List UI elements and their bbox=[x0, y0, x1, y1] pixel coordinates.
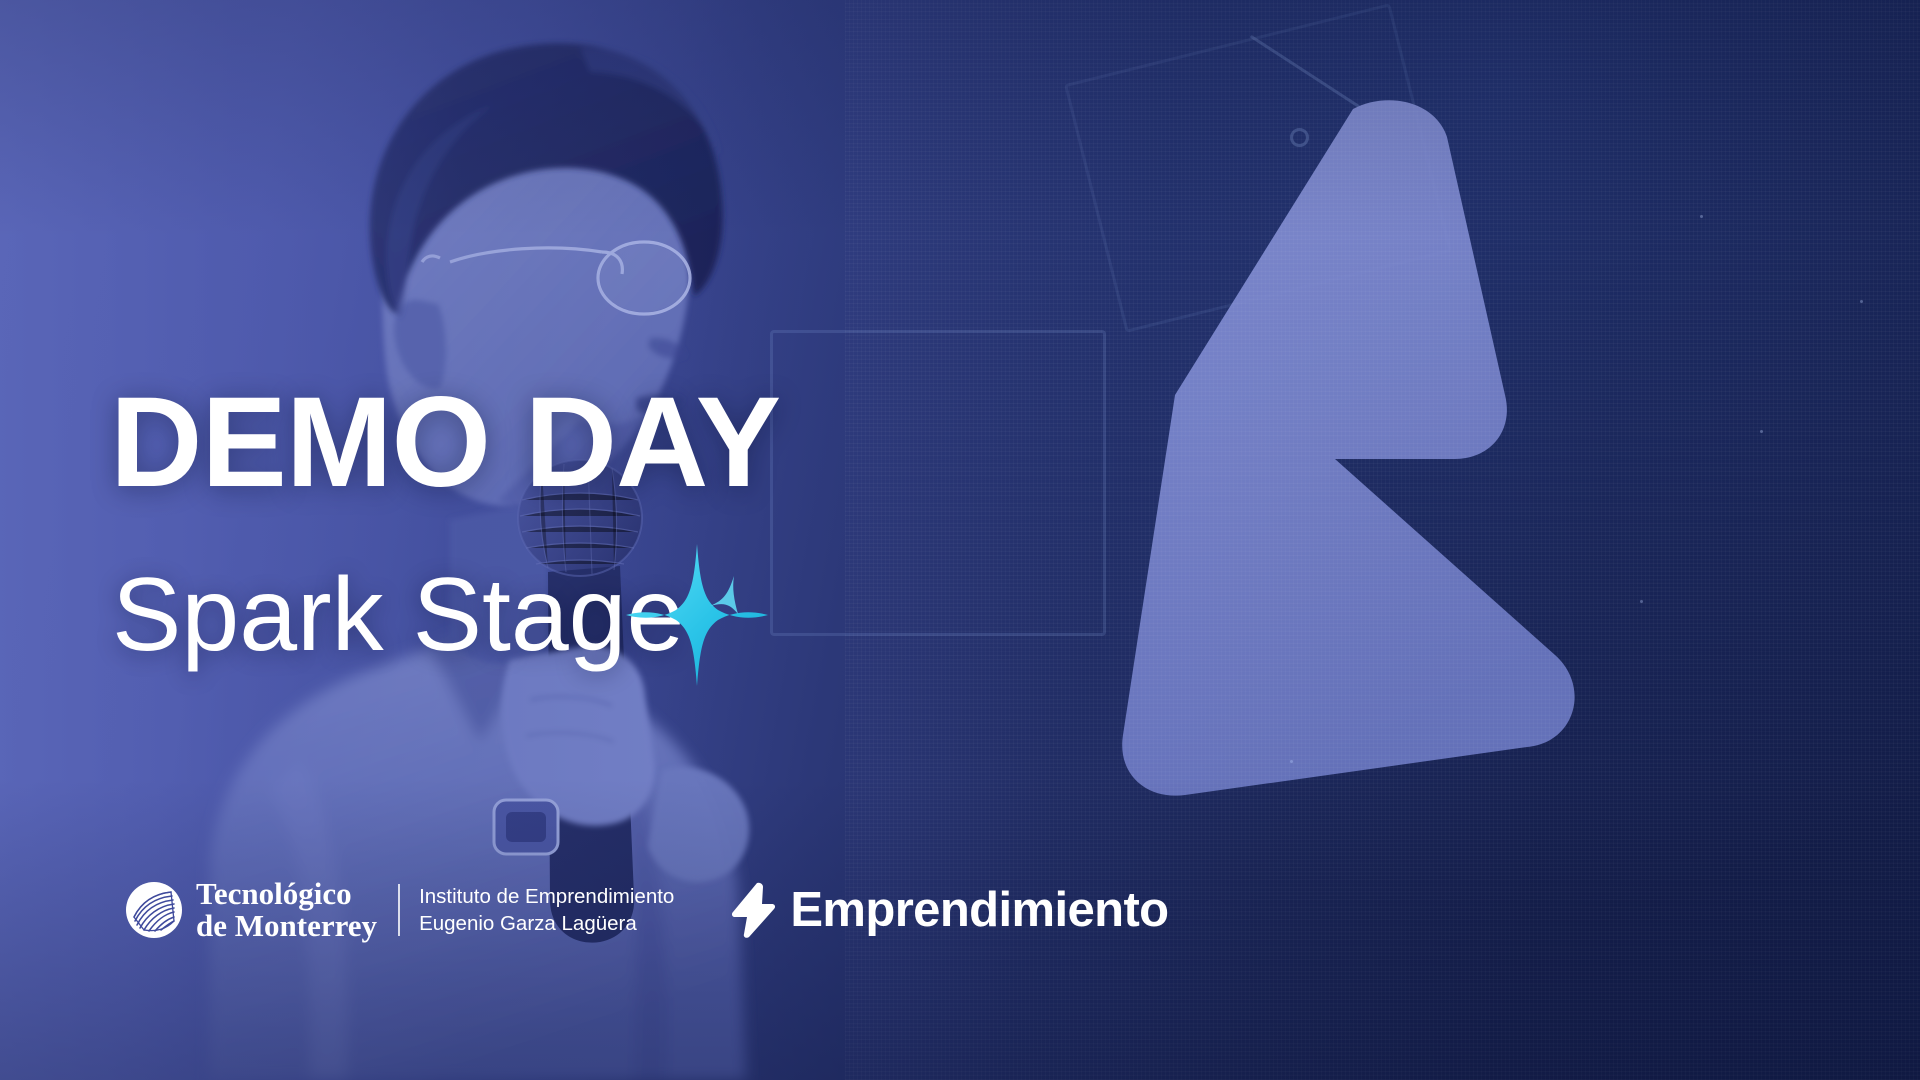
tec-de-monterrey-logo: Tecnológico de Monterrey bbox=[125, 878, 377, 942]
tec-wordmark-line2: de Monterrey bbox=[196, 910, 377, 942]
light-speck bbox=[1290, 760, 1293, 763]
subtitle-row: Spark Stage bbox=[112, 540, 772, 690]
light-speck bbox=[1760, 430, 1763, 433]
logo-divider bbox=[398, 884, 400, 936]
tec-de-monterrey-emblem-icon bbox=[125, 881, 183, 939]
lightning-bolt-icon bbox=[730, 881, 776, 939]
poster-subtitle: Spark Stage bbox=[112, 563, 684, 667]
footer-logo-bar: Tecnológico de Monterrey Instituto de Em… bbox=[125, 878, 1169, 942]
demo-day-poster: DEMO DAY Spark Stage bbox=[0, 0, 1920, 1080]
emprendimiento-logo: Emprendimiento bbox=[730, 881, 1168, 939]
light-speck bbox=[1700, 215, 1703, 218]
light-speck bbox=[1640, 600, 1643, 603]
sparkle-star-icon bbox=[622, 540, 772, 690]
light-speck bbox=[1860, 300, 1863, 303]
institute-line1: Instituto de Emprendimiento bbox=[419, 883, 674, 910]
tec-wordmark-line1: Tecnológico bbox=[196, 878, 377, 910]
institute-line2: Eugenio Garza Lagüera bbox=[419, 910, 674, 937]
emprendimiento-wordmark: Emprendimiento bbox=[790, 882, 1168, 938]
institute-name: Instituto de Emprendimiento Eugenio Garz… bbox=[419, 883, 674, 937]
page-title: DEMO DAY bbox=[110, 384, 780, 502]
tec-de-monterrey-wordmark: Tecnológico de Monterrey bbox=[196, 878, 377, 942]
